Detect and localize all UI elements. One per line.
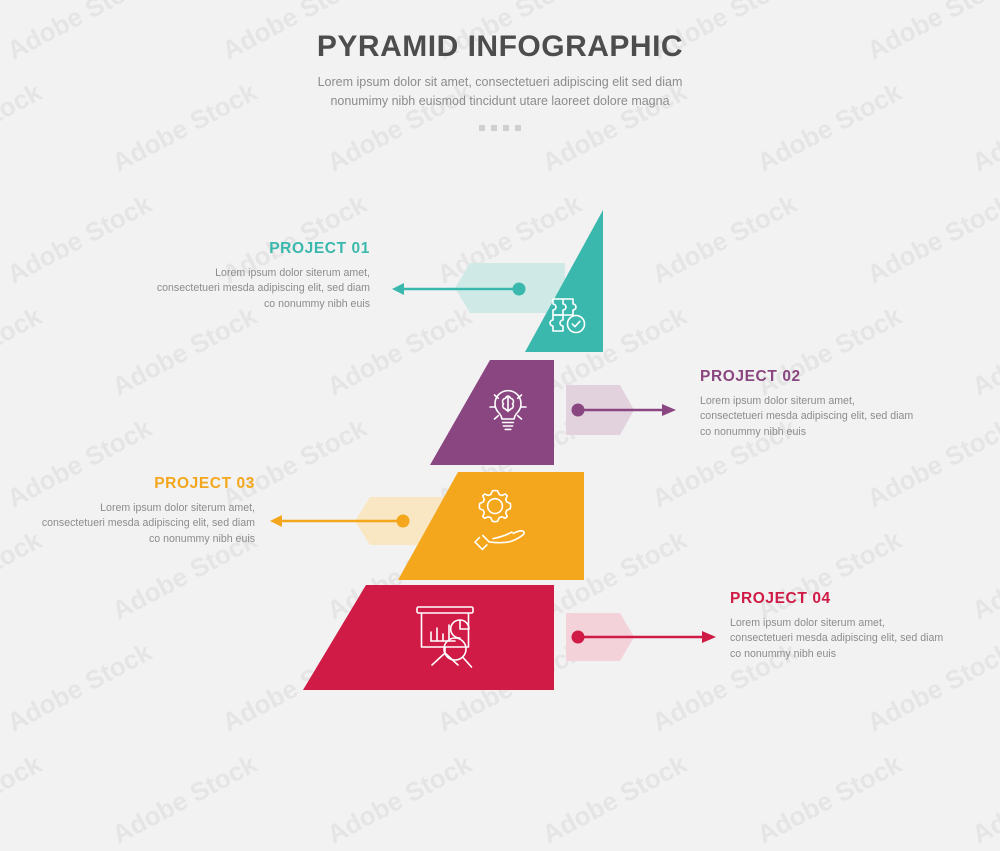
project-02-block: PROJECT 02 Lorem ipsum dolor siterum ame… [700, 368, 920, 440]
project-01-title: PROJECT 01 [150, 240, 370, 258]
pyramid-level-2 [430, 360, 554, 465]
project-04-description: Lorem ipsum dolor siterum amet, consecte… [730, 616, 950, 662]
project-02-title: PROJECT 02 [700, 368, 920, 386]
project-03-block: PROJECT 03 Lorem ipsum dolor siterum ame… [35, 475, 255, 547]
project-03-description: Lorem ipsum dolor siterum amet, consecte… [35, 501, 255, 547]
project-01-description: Lorem ipsum dolor siterum amet, consecte… [150, 266, 370, 312]
infographic-canvas: Adobe StockAdobe StockAdobe StockAdobe S… [0, 0, 1000, 800]
project-04-title: PROJECT 04 [730, 590, 950, 608]
project-02-description: Lorem ipsum dolor siterum amet, consecte… [700, 394, 920, 440]
project-03-title: PROJECT 03 [35, 475, 255, 493]
project-01-block: PROJECT 01 Lorem ipsum dolor siterum ame… [150, 240, 370, 312]
project-04-block: PROJECT 04 Lorem ipsum dolor siterum ame… [730, 590, 950, 662]
pyramid-level-4 [303, 585, 554, 690]
